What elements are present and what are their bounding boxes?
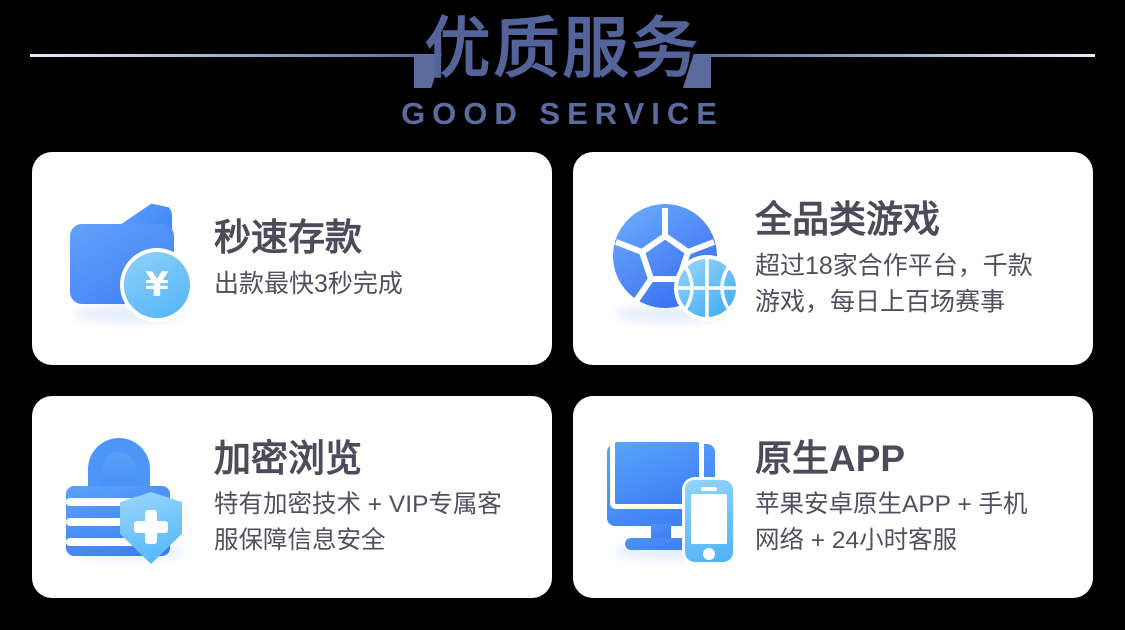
shield-cross-icon: [134, 521, 168, 533]
page-header: 优质服务 GOOD SERVICE: [0, 0, 1125, 150]
lock-slot-line: [66, 518, 124, 526]
card-description-line: 游戏，每日上百场赛事: [755, 284, 1079, 320]
card-description-line: 服保障信息安全: [214, 523, 538, 559]
page-subtitle: GOOD SERVICE: [0, 96, 1125, 132]
card-title: 原生APP: [755, 436, 1079, 482]
lock-shield-icon: [62, 432, 202, 562]
card-text-block: 加密浏览 特有加密技术 + VIP专属客 服保障信息安全: [202, 436, 552, 559]
card-description: 出款最快3秒完成: [214, 266, 538, 302]
card-description: 特有加密技术 + VIP专属客 服保障信息安全: [214, 487, 538, 559]
card-description: 苹果安卓原生APP + 手机 网络 + 24小时客服: [755, 487, 1079, 559]
phone-screen: [691, 494, 727, 544]
card-description-line: 超过18家合作平台，千款: [755, 248, 1079, 284]
feature-card-games[interactable]: 全品类游戏 超过18家合作平台，千款 游戏，每日上百场赛事: [573, 152, 1093, 365]
feature-card-native-app[interactable]: 原生APP 苹果安卓原生APP + 手机 网络 + 24小时客服: [573, 396, 1093, 598]
feature-card-deposit[interactable]: ¥ 秒速存款 出款最快3秒完成: [32, 152, 552, 365]
card-text-block: 全品类游戏 超过18家合作平台，千款 游戏，每日上百场赛事: [743, 197, 1093, 320]
card-text-block: 秒速存款 出款最快3秒完成: [202, 215, 552, 302]
phone-shape: [685, 480, 733, 562]
card-title: 加密浏览: [214, 436, 538, 482]
soccer-basketball-icon: [603, 194, 743, 324]
monitor-phone-icon: [603, 432, 743, 562]
card-text-block: 原生APP 苹果安卓原生APP + 手机 网络 + 24小时客服: [743, 436, 1093, 559]
card-description-line: 苹果安卓原生APP + 手机: [755, 487, 1079, 523]
card-title: 全品类游戏: [755, 197, 1079, 243]
yen-coin-icon: ¥: [124, 252, 190, 318]
feature-card-grid: ¥ 秒速存款 出款最快3秒完成: [32, 152, 1093, 598]
card-description-line: 网络 + 24小时客服: [755, 523, 1079, 559]
card-title: 秒速存款: [214, 215, 538, 261]
card-description-line: 特有加密技术 + VIP专属客: [214, 487, 538, 523]
page-title: 优质服务: [0, 8, 1125, 90]
phone-home-button: [703, 548, 715, 560]
ball-graphic: [607, 200, 739, 324]
wallet-yen-icon: ¥: [62, 194, 202, 324]
card-description: 超过18家合作平台，千款 游戏，每日上百场赛事: [755, 248, 1079, 320]
feature-card-encryption[interactable]: 加密浏览 特有加密技术 + VIP专属客 服保障信息安全: [32, 396, 552, 598]
phone-speaker: [701, 487, 717, 491]
card-description-line: 出款最快3秒完成: [214, 266, 538, 302]
